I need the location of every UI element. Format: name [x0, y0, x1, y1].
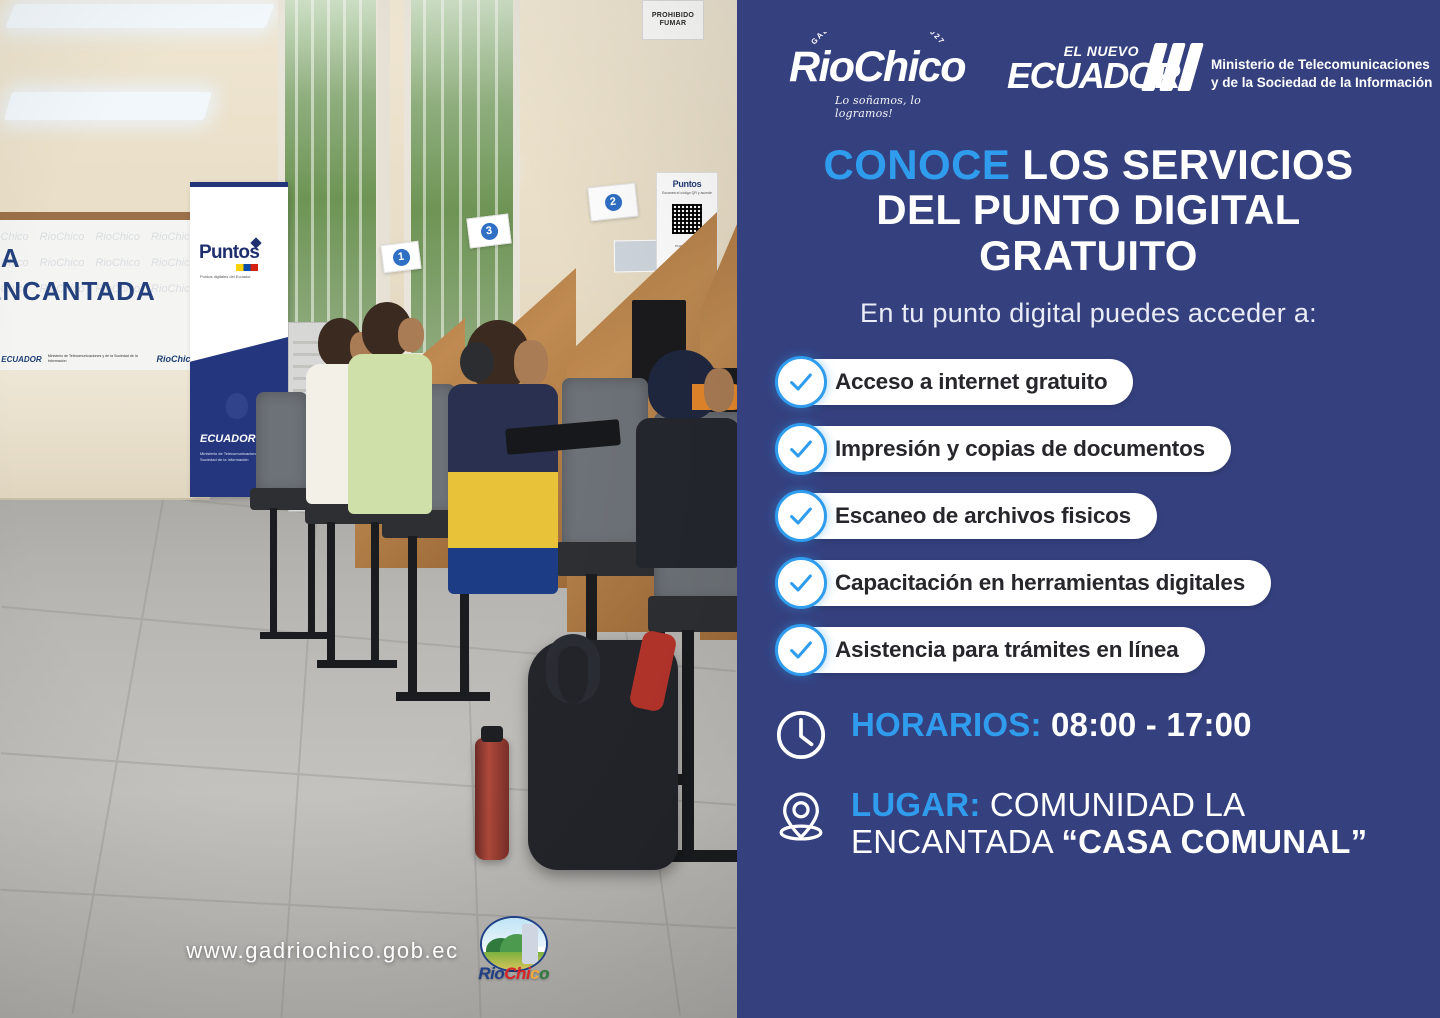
check-circle-icon — [775, 423, 827, 475]
riochico-badge-logo: RioChico — [477, 916, 551, 986]
service-label: Asistencia para trámites en línea — [835, 637, 1179, 663]
services-list: Acceso a internet gratuito Impresión y c… — [783, 359, 1440, 673]
info-block: HORARIOS: 08:00 - 17:00 LUGAR: COMUNIDAD… — [773, 707, 1440, 861]
page-title: CONOCE LOS SERVICIOS DEL PUNTO DIGITAL G… — [761, 142, 1416, 278]
service-label: Impresión y copias de documentos — [835, 436, 1205, 462]
ecuador-mark: EL NUEVO ECUADOR — [1007, 41, 1197, 107]
riochico-tagline: Lo soñamos, lo logramos! — [835, 94, 973, 120]
list-item[interactable]: Asistencia para trámites en línea — [783, 627, 1205, 673]
schedule-value: 08:00 - 17:00 — [1042, 706, 1252, 743]
list-item[interactable]: Impresión y copias de documentos — [783, 426, 1231, 472]
ministry-line1: Ministerio de Telecomunicaciones — [1211, 56, 1432, 74]
check-circle-icon — [775, 624, 827, 676]
place-text: LUGAR: COMUNIDAD LA ENCANTADA “CASA COMU… — [851, 787, 1440, 861]
riochico-wordmark: RioChico — [789, 46, 979, 89]
website-url[interactable]: www.gadriochico.gob.ec — [186, 938, 458, 964]
info-panel: GAD PARROQUIAL 2023-2027 RioChico Lo soñ… — [737, 0, 1440, 1018]
place-row: LUGAR: COMUNIDAD LA ENCANTADA “CASA COMU… — [773, 787, 1440, 861]
place-label: LUGAR: — [851, 786, 981, 823]
subhead: En tu punto digital puedes acceder a: — [737, 298, 1440, 329]
badge-w1: Rio — [478, 964, 504, 983]
schedule-text: HORARIOS: 08:00 - 17:00 — [851, 707, 1252, 744]
service-label: Capacitación en herramientas digitales — [835, 570, 1245, 596]
photo-vignette — [0, 0, 737, 1018]
headline-rest1: LOS SERVICIOS — [1010, 141, 1353, 188]
badge-w4: o — [539, 964, 549, 983]
location-pin-icon — [773, 787, 829, 843]
badge-w3: c — [530, 964, 539, 983]
ecuador-logo: EL NUEVO ECUADOR Ministerio de Telecomun… — [1007, 41, 1432, 107]
list-item[interactable]: Capacitación en herramientas digitales — [783, 560, 1271, 606]
service-label: Escaneo de archivos fisicos — [835, 503, 1131, 529]
logo-row: GAD PARROQUIAL 2023-2027 RioChico Lo soñ… — [737, 0, 1440, 120]
check-circle-icon — [775, 490, 827, 542]
badge-w2: Chi — [504, 964, 530, 983]
headline-line3: GRATUITO — [761, 233, 1416, 278]
place-highlight: “CASA COMUNAL” — [1061, 823, 1367, 860]
photo-computer-lab: PROHIBIDO FUMAR Puntos Escanea el código… — [0, 0, 737, 1018]
ecuador-slashes-icon — [1148, 43, 1197, 91]
service-label: Acceso a internet gratuito — [835, 369, 1107, 395]
ministry-text: Ministerio de Telecomunicaciones y de la… — [1211, 56, 1432, 92]
badge-wordmark: RioChico — [477, 964, 551, 984]
check-circle-icon — [775, 557, 827, 609]
schedule-label: HORARIOS: — [851, 706, 1042, 743]
check-circle-icon — [775, 356, 827, 408]
headline-line1: CONOCE LOS SERVICIOS — [761, 142, 1416, 187]
headline-accent: CONOCE — [824, 141, 1011, 188]
footer: www.gadriochico.gob.ec RioChico — [0, 916, 737, 986]
headline-line2: DEL PUNTO DIGITAL — [761, 187, 1416, 232]
list-item[interactable]: Escaneo de archivos fisicos — [783, 493, 1157, 539]
schedule-row: HORARIOS: 08:00 - 17:00 — [773, 707, 1440, 763]
ministry-line2: y de la Sociedad de la Información — [1211, 74, 1432, 92]
list-item[interactable]: Acceso a internet gratuito — [783, 359, 1133, 405]
riochico-logo: GAD PARROQUIAL 2023-2027 RioChico Lo soñ… — [783, 28, 973, 120]
poster: PROHIBIDO FUMAR Puntos Escanea el código… — [0, 0, 1440, 1018]
clock-icon — [773, 707, 829, 763]
